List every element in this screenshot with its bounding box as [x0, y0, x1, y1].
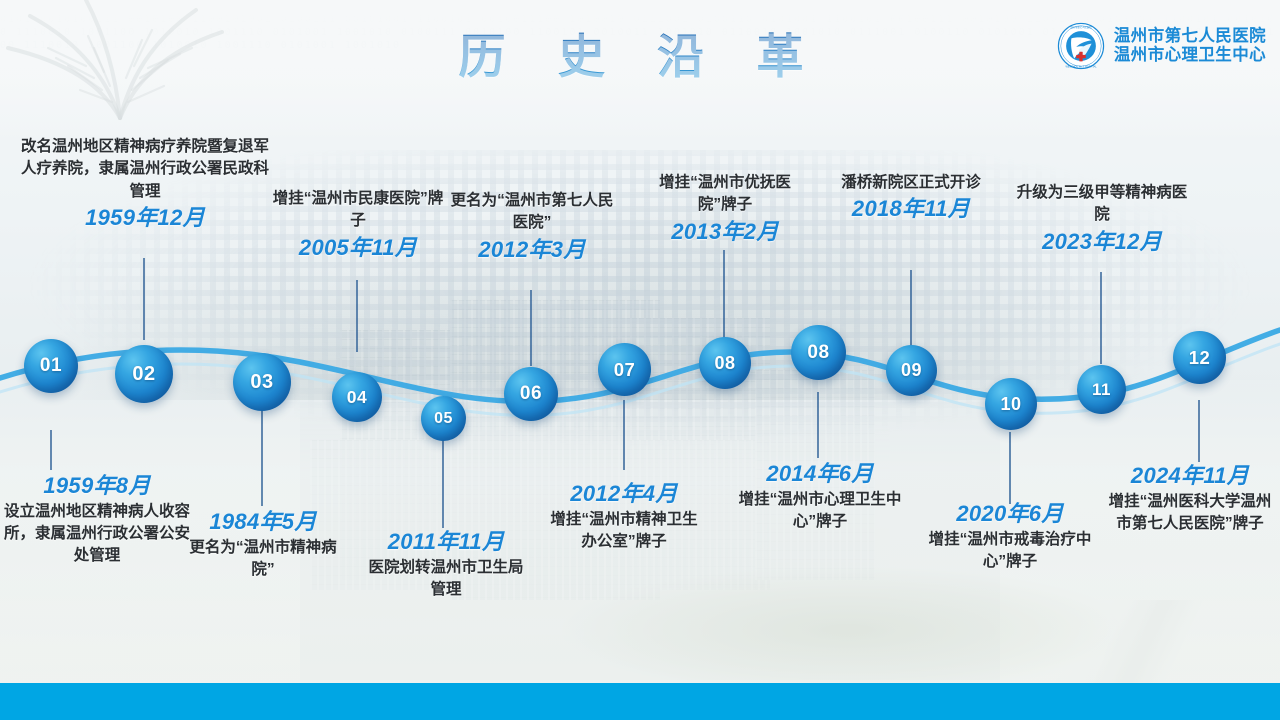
- event-desc-01: 设立温州地区精神病人收容所，隶属温州行政公署公安处管理: [2, 501, 192, 568]
- event-desc-10: 增挂“温州市戒毒治疗中心”牌子: [926, 529, 1094, 574]
- slide-canvas: 0101001110010101 1001010 0110100101 0110…: [0, 0, 1280, 720]
- timeline-node-03[interactable]: 03: [233, 353, 291, 411]
- event-desc-04: 增挂“温州市民康医院”牌子: [272, 188, 444, 233]
- brand-lockup: 温州市第七人民医院 WENZHOU No.7 HOSPITAL 温州市第七人民医…: [1057, 22, 1266, 70]
- event-desc-03: 更名为“温州市精神病院”: [182, 537, 344, 582]
- timeline-node-07[interactable]: 07: [598, 343, 651, 396]
- timeline-node-04[interactable]: 04: [332, 372, 382, 422]
- brand-line-1: 温州市第七人民医院: [1114, 27, 1266, 46]
- event-desc-02: 改名温州地区精神病疗养院暨复退军人疗养院，隶属温州行政公署民政科管理: [14, 136, 276, 203]
- event-date-12: 2024年11月: [1104, 462, 1276, 490]
- event-block-08b[interactable]: 2014年6月 增挂“温州市心理卫生中心”牌子: [735, 460, 905, 533]
- footer-accent-bar: [0, 683, 1280, 720]
- event-desc-08a: 增挂“温州市优抚医院”牌子: [642, 172, 808, 217]
- event-date-08a: 2013年2月: [642, 218, 808, 246]
- event-block-08a[interactable]: 增挂“温州市优抚医院”牌子 2013年2月: [642, 172, 808, 245]
- event-block-10[interactable]: 2020年6月 增挂“温州市戒毒治疗中心”牌子: [926, 500, 1094, 573]
- timeline-node-01[interactable]: 01: [24, 339, 78, 393]
- hospital-emblem-icon: 温州市第七人民医院 WENZHOU No.7 HOSPITAL: [1057, 22, 1105, 70]
- event-desc-05: 医院划转温州市卫生局管理: [364, 557, 528, 602]
- timeline-node-11[interactable]: 11: [1077, 365, 1126, 414]
- timeline-node-05[interactable]: 05: [421, 396, 466, 441]
- event-desc-12: 增挂“温州医科大学温州市第七人民医院”牌子: [1104, 491, 1276, 536]
- event-block-01[interactable]: 1959年8月 设立温州地区精神病人收容所，隶属温州行政公署公安处管理: [2, 472, 192, 568]
- event-desc-09: 潘桥新院区正式开诊: [826, 172, 996, 194]
- svg-text:WENZHOU No.7 HOSPITAL: WENZHOU No.7 HOSPITAL: [1065, 66, 1097, 69]
- event-desc-11: 升级为三级甲等精神病医院: [1014, 182, 1190, 227]
- event-block-06[interactable]: 更名为“温州市第七人民医院” 2012年3月: [448, 190, 616, 263]
- event-date-08b: 2014年6月: [735, 460, 905, 488]
- event-desc-08b: 增挂“温州市心理卫生中心”牌子: [735, 489, 905, 534]
- event-date-07: 2012年4月: [543, 480, 705, 508]
- event-block-07[interactable]: 2012年4月 增挂“温州市精神卫生办公室”牌子: [543, 480, 705, 553]
- event-date-04: 2005年11月: [272, 234, 444, 262]
- event-date-11: 2023年12月: [1014, 228, 1190, 256]
- timeline-node-02[interactable]: 02: [115, 345, 173, 403]
- timeline-node-12[interactable]: 12: [1173, 331, 1226, 384]
- event-date-06: 2012年3月: [448, 236, 616, 264]
- timeline-node-09[interactable]: 09: [886, 345, 937, 396]
- svg-text:温州市第七人民医院: 温州市第七人民医院: [1070, 25, 1092, 29]
- timeline-node-08a[interactable]: 08: [699, 337, 751, 389]
- event-desc-07: 增挂“温州市精神卫生办公室”牌子: [543, 509, 705, 554]
- event-block-04[interactable]: 增挂“温州市民康医院”牌子 2005年11月: [272, 188, 444, 261]
- event-date-02: 1959年12月: [14, 204, 276, 232]
- event-block-12[interactable]: 2024年11月 增挂“温州医科大学温州市第七人民医院”牌子: [1104, 462, 1276, 535]
- timeline-node-10[interactable]: 10: [985, 378, 1037, 430]
- event-block-03[interactable]: 1984年5月 更名为“温州市精神病院”: [182, 508, 344, 581]
- event-desc-06: 更名为“温州市第七人民医院”: [448, 190, 616, 235]
- event-date-10: 2020年6月: [926, 500, 1094, 528]
- timeline-node-06[interactable]: 06: [504, 367, 558, 421]
- event-date-05: 2011年11月: [364, 528, 528, 556]
- event-date-01: 1959年8月: [2, 472, 192, 500]
- timeline-node-08b[interactable]: 08: [791, 325, 846, 380]
- event-block-09[interactable]: 潘桥新院区正式开诊 2018年11月: [826, 172, 996, 223]
- brand-line-2: 温州市心理卫生中心: [1114, 46, 1266, 65]
- event-date-03: 1984年5月: [182, 508, 344, 536]
- event-block-05[interactable]: 2011年11月 医院划转温州市卫生局管理: [364, 528, 528, 601]
- event-block-02[interactable]: 改名温州地区精神病疗养院暨复退军人疗养院，隶属温州行政公署民政科管理 1959年…: [14, 136, 276, 232]
- event-date-09: 2018年11月: [826, 195, 996, 223]
- event-block-11[interactable]: 升级为三级甲等精神病医院 2023年12月: [1014, 182, 1190, 255]
